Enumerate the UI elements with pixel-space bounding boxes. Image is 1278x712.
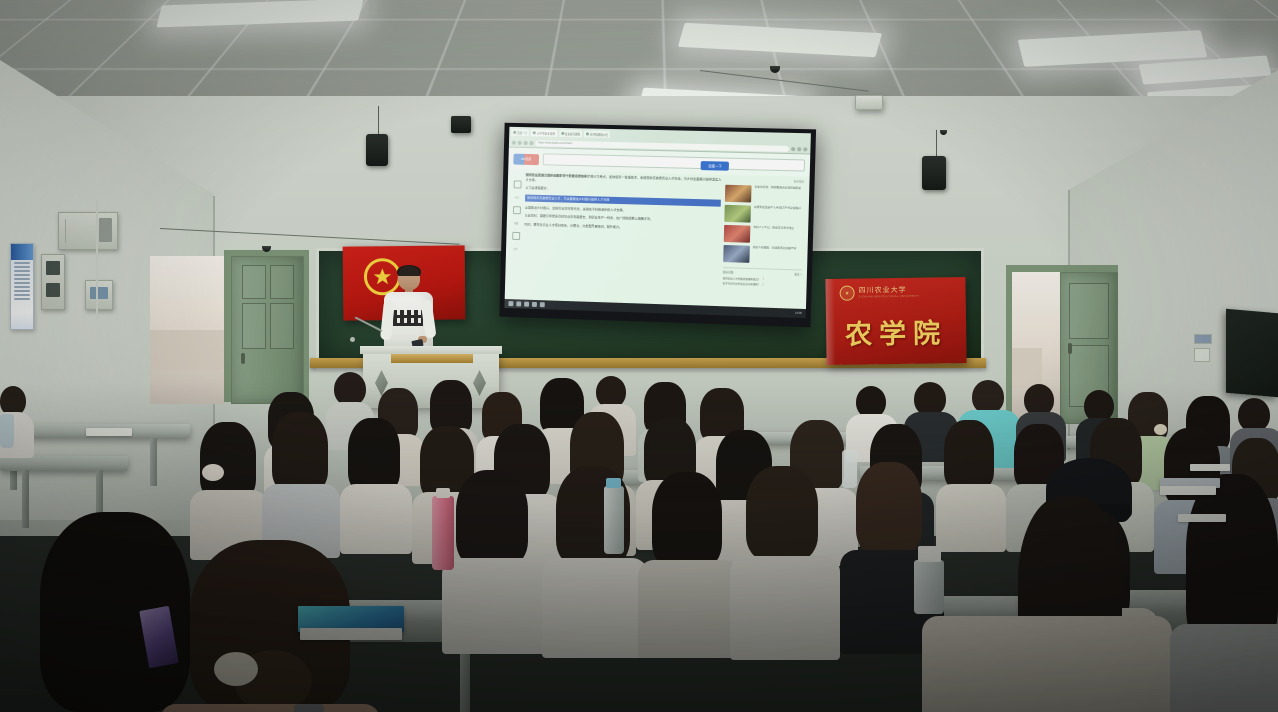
content-side-rail: 评论 收藏 分享 bbox=[510, 172, 522, 301]
torso bbox=[160, 704, 380, 712]
classroom-scene: ★ 四川农业大学 SICHUAN AGRICULTURAL UNIVERSITY… bbox=[0, 0, 1278, 712]
door-panel bbox=[270, 303, 294, 349]
corridor-wainscot bbox=[1012, 348, 1042, 388]
poster-line bbox=[14, 274, 30, 276]
hair bbox=[200, 422, 256, 500]
sidebar-header: 相关推荐 bbox=[725, 178, 804, 184]
wall-display-screen bbox=[1226, 309, 1278, 398]
rail-label: 收藏 bbox=[514, 221, 518, 225]
sidebar-item-title: 年轻人下乡记：把论文写在大地上 bbox=[753, 226, 794, 231]
search-input[interactable] bbox=[543, 153, 805, 171]
forward-icon[interactable] bbox=[518, 140, 522, 144]
hair bbox=[456, 470, 528, 566]
lectern-wood-trim bbox=[391, 354, 473, 363]
electrical-panel-secondary bbox=[41, 254, 65, 310]
ceiling-speaker bbox=[922, 156, 946, 190]
related-row-text: 现代农业人才需要具备哪些能力？ bbox=[723, 276, 761, 281]
share-icon[interactable] bbox=[512, 232, 520, 240]
browser-tab[interactable]: 农学院通知公告 bbox=[584, 130, 610, 138]
door-panel bbox=[242, 265, 266, 299]
desk-leg bbox=[150, 438, 157, 486]
tab-label: 就业指导课程 bbox=[565, 131, 580, 135]
hair-scrunchie bbox=[214, 652, 258, 686]
tab-label: 百度一下 bbox=[517, 130, 527, 134]
head bbox=[1238, 398, 1270, 432]
microphone-head-icon bbox=[350, 337, 355, 342]
bottle-cap bbox=[436, 488, 450, 498]
folder-icon[interactable] bbox=[540, 302, 545, 307]
comment-icon[interactable] bbox=[513, 180, 521, 188]
article-thumbnail bbox=[724, 225, 751, 243]
clear-water-bottle bbox=[842, 450, 857, 488]
poster-line bbox=[14, 286, 30, 288]
door-panel bbox=[270, 265, 294, 299]
sidebar-item[interactable]: 高校毕业生返乡入海 助力乡村全面振兴 bbox=[724, 205, 803, 224]
ceiling-projector bbox=[855, 95, 883, 110]
tab-label: 大学生职业规划 bbox=[537, 131, 555, 135]
panel-vent bbox=[99, 218, 112, 242]
highlighted-selection: 加快培养高素质农业人才，为全面推进乡村振兴提供人才支撑 bbox=[525, 194, 721, 206]
search-button[interactable]: 百度一下 bbox=[701, 161, 729, 171]
hair bbox=[272, 412, 328, 492]
torso bbox=[922, 616, 1172, 712]
textbook-pages bbox=[300, 628, 402, 640]
notebook-paper bbox=[1160, 486, 1216, 495]
poster-header bbox=[11, 244, 33, 260]
door-panel bbox=[1069, 283, 1109, 339]
poster-line bbox=[14, 270, 30, 272]
page-content: 评论 收藏 分享 现代农业发展，为什么需要现代农业人才支撑？ 围绕建设农业强国的… bbox=[505, 169, 810, 314]
notebook-paper bbox=[1190, 464, 1230, 471]
door-handle[interactable] bbox=[1068, 343, 1072, 354]
college-name: 农学院 bbox=[826, 311, 967, 352]
display-label-plate bbox=[1194, 334, 1212, 344]
hair bbox=[856, 462, 922, 554]
recommendation-sidebar: 相关推荐 农业农村部：持续推进高标准农田建设 高校毕业生返乡入海 助力乡村全面振… bbox=[722, 178, 805, 311]
wall-outlet bbox=[1194, 348, 1210, 362]
tab-label: 农学院通知公告 bbox=[590, 132, 608, 136]
wall-speaker bbox=[451, 116, 471, 133]
sidebar-item-title: 新农人新技能：农业技术培训进乡村 bbox=[753, 246, 797, 251]
reload-icon[interactable] bbox=[524, 140, 528, 144]
torso bbox=[1170, 624, 1278, 712]
conduit-pipe bbox=[96, 200, 98, 320]
poster-line bbox=[14, 282, 30, 284]
related-header: 相关问题 bbox=[723, 270, 734, 274]
poster-line bbox=[14, 266, 30, 268]
favicon-icon bbox=[513, 131, 516, 134]
sidebar-item-title: 高校毕业生返乡入海 助力乡村全面振兴 bbox=[754, 206, 801, 211]
student-desk bbox=[0, 456, 128, 471]
ceiling-speaker bbox=[366, 134, 388, 166]
browser-icon[interactable] bbox=[524, 302, 529, 307]
browser-tab[interactable]: 百度一下 bbox=[511, 129, 529, 136]
sidebar-item[interactable]: 新农人新技能：农业技术培训进乡村 bbox=[723, 245, 802, 264]
explorer-icon[interactable] bbox=[516, 301, 521, 306]
hair bbox=[746, 466, 818, 560]
favicon-icon bbox=[533, 131, 536, 134]
corridor-wainscot bbox=[150, 330, 224, 370]
rail-label: 分享 bbox=[513, 247, 517, 251]
sidebar-item-title: 农业农村部：持续推进高标准农田建设 bbox=[754, 185, 800, 190]
article-body: 现代农业发展，为什么需要现代农业人才支撑？ 围绕建设农业强国的目标，下一步要坚持… bbox=[522, 173, 721, 308]
control-panel[interactable] bbox=[85, 280, 113, 310]
head bbox=[972, 380, 1004, 414]
speaker-rod bbox=[936, 130, 937, 158]
rail-label: 评论 bbox=[515, 195, 519, 199]
torso bbox=[542, 558, 648, 658]
wechat-icon[interactable] bbox=[532, 302, 537, 307]
browser-tab-active[interactable]: 大学生职业规划 bbox=[531, 129, 557, 137]
favicon-icon bbox=[586, 132, 589, 135]
shirt-graphic-print bbox=[393, 310, 423, 326]
favicon-icon bbox=[561, 132, 564, 135]
poster-line bbox=[14, 298, 30, 300]
torso bbox=[638, 560, 740, 658]
related-row[interactable]: 农学专业毕业生就业方向有哪些？ 2 bbox=[723, 281, 802, 288]
presenter-head bbox=[398, 266, 420, 290]
panel-window bbox=[46, 283, 60, 297]
taskbar-clock: 14:35 bbox=[795, 312, 802, 315]
projection-screen: 百度一下 大学生职业规划 就业指导课程 农学院通知公告 bbox=[499, 123, 816, 328]
poster-line bbox=[14, 278, 30, 280]
article-paragraph: 以下是课程要点： bbox=[525, 186, 721, 196]
poster-line bbox=[14, 262, 30, 264]
clear-water-bottle bbox=[914, 560, 944, 614]
related-row-text: 农学专业毕业生就业方向有哪些？ bbox=[723, 281, 761, 286]
hair-scrunchie bbox=[1154, 424, 1167, 435]
extensions-icon[interactable] bbox=[791, 147, 795, 151]
university-seal-icon: ★ bbox=[840, 286, 855, 301]
clear-water-bottle bbox=[604, 486, 624, 554]
bottle-cap bbox=[918, 546, 941, 562]
back-icon[interactable] bbox=[512, 140, 516, 144]
tank-top-strap bbox=[294, 704, 324, 712]
bookmark-icon[interactable] bbox=[512, 206, 520, 214]
classroom-door-left[interactable] bbox=[231, 256, 304, 404]
profile-icon[interactable] bbox=[797, 147, 801, 151]
hair bbox=[348, 418, 400, 492]
poster-line bbox=[14, 290, 30, 292]
hair bbox=[944, 420, 994, 490]
panel-seam bbox=[65, 219, 66, 243]
notebook-paper bbox=[1178, 514, 1226, 522]
panel-display bbox=[90, 287, 108, 299]
projected-browser-window: 百度一下 大学生职业规划 就业指导课程 农学院通知公告 bbox=[504, 127, 810, 318]
wall-poster bbox=[10, 243, 34, 330]
related-row-number: 2 bbox=[762, 283, 763, 286]
head bbox=[334, 372, 366, 406]
notebook-paper bbox=[86, 428, 132, 436]
university-name-en: SICHUAN AGRICULTURAL UNIVERSITY bbox=[859, 295, 920, 299]
door-handle[interactable] bbox=[241, 353, 245, 364]
browser-tab[interactable]: 就业指导课程 bbox=[559, 130, 582, 137]
clear-water-bottle bbox=[0, 414, 14, 448]
home-icon[interactable] bbox=[530, 141, 534, 145]
desk-leg bbox=[22, 470, 29, 528]
article-thumbnail bbox=[725, 185, 752, 203]
related-questions-box: 相关问题 更多 > 现代农业人才需要具备哪些能力？ 1 农学专业毕业生就业方向有… bbox=[723, 267, 802, 288]
related-row-number: 1 bbox=[763, 277, 764, 280]
article-thumbnail bbox=[723, 245, 750, 263]
banner-university-row: ★ 四川农业大学 SICHUAN AGRICULTURAL UNIVERSITY bbox=[840, 285, 920, 301]
electrical-panel-main bbox=[58, 212, 118, 250]
menu-icon[interactable] bbox=[803, 147, 807, 151]
related-more-link[interactable]: 更多 > bbox=[794, 272, 802, 276]
bottle-cap bbox=[606, 478, 621, 488]
lectern-top bbox=[360, 346, 502, 354]
torso bbox=[936, 484, 1006, 552]
article-paragraph: 同时，要完善农业人才培训体系，分层次、分类型开展培训，提升能力。 bbox=[524, 222, 720, 232]
article-thumbnail bbox=[724, 205, 751, 223]
poster-line bbox=[14, 294, 30, 296]
torso bbox=[442, 558, 546, 654]
head bbox=[914, 382, 946, 416]
panel-window bbox=[46, 261, 60, 275]
hair-bow-scrunchie bbox=[202, 464, 224, 481]
student-presenter bbox=[380, 266, 436, 358]
start-icon[interactable] bbox=[508, 301, 513, 306]
door-panel bbox=[242, 303, 266, 349]
hair bbox=[652, 472, 722, 568]
torso bbox=[340, 484, 412, 554]
site-logo: Bai百度 bbox=[513, 153, 539, 165]
speaker-rod bbox=[378, 106, 379, 136]
lectern-diamond-motif bbox=[473, 370, 486, 396]
torso bbox=[730, 556, 840, 660]
sidebar-item[interactable]: 农业农村部：持续推进高标准农田建设 bbox=[725, 185, 804, 204]
college-banner: ★ 四川农业大学 SICHUAN AGRICULTURAL UNIVERSITY… bbox=[825, 277, 966, 365]
sidebar-item[interactable]: 年轻人下乡记：把论文写在大地上 bbox=[724, 225, 803, 244]
pink-water-bottle bbox=[432, 496, 454, 570]
